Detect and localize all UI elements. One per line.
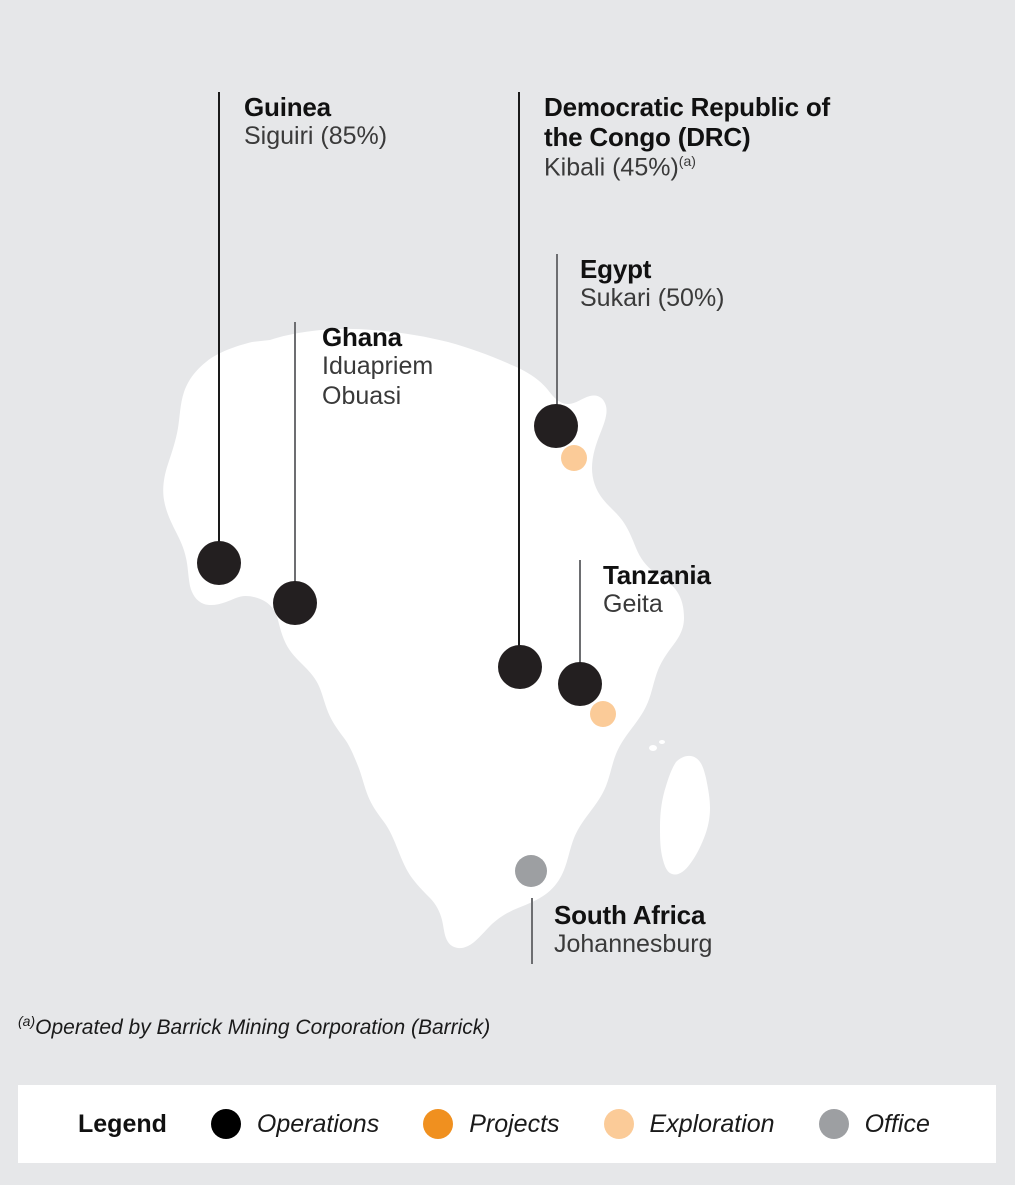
callout-country-tanzania: Tanzania: [603, 560, 843, 590]
callout-guinea: Guinea Siguiri (85%): [244, 92, 494, 152]
leader-line-ghana: [294, 322, 296, 584]
map-marker-south-africa-office[interactable]: [515, 855, 547, 887]
map-other-regions: [596, 350, 790, 452]
footnote-text: Operated by Barrick Mining Corporation (…: [35, 1016, 490, 1039]
callout-superscript-drc: (a): [679, 153, 696, 169]
callout-ghana: Ghana Iduapriem Obuasi: [322, 322, 562, 411]
legend-label-operations: Operations: [257, 1110, 379, 1139]
legend-item-exploration: Exploration: [604, 1109, 775, 1139]
leader-line-tanzania: [579, 560, 581, 664]
africa-map: Guinea Siguiri (85%) Democratic Republic…: [0, 0, 1015, 1000]
callout-site-drc-0: Kibali (45%)(a): [544, 153, 874, 183]
callout-egypt: Egypt Sukari (50%): [580, 254, 830, 314]
map-marker-tanzania-exploration[interactable]: [590, 701, 616, 727]
map-marker-tanzania-geita[interactable]: [558, 662, 602, 706]
callout-site-ghana-1: Obuasi: [322, 382, 562, 411]
map-marker-guinea-siguiri[interactable]: [197, 541, 241, 585]
callout-country-south-africa: South Africa: [554, 900, 854, 930]
leader-line-guinea: [218, 92, 220, 542]
legend-title: Legend: [78, 1110, 167, 1139]
operations-swatch-icon: [211, 1109, 241, 1139]
legend: Legend Operations Projects Exploration O…: [18, 1085, 996, 1163]
map-marker-drc-kibali[interactable]: [498, 645, 542, 689]
callout-country-drc: Democratic Republic of the Congo (DRC): [544, 92, 874, 153]
legend-label-office: Office: [865, 1110, 930, 1139]
legend-item-operations: Operations: [211, 1109, 379, 1139]
map-marker-egypt-sukari[interactable]: [534, 404, 578, 448]
callout-site-egypt-0: Sukari (50%): [580, 284, 830, 313]
callout-country-egypt: Egypt: [580, 254, 830, 284]
legend-label-projects: Projects: [469, 1110, 559, 1139]
footnote-superscript: (a): [18, 1013, 35, 1029]
exploration-swatch-icon: [604, 1109, 634, 1139]
footnote: (a)Operated by Barrick Mining Corporatio…: [18, 1013, 490, 1040]
map-marker-ghana-obuasi[interactable]: [273, 581, 317, 625]
callout-site-drc-text: Kibali (45%): [544, 153, 679, 181]
callout-country-guinea: Guinea: [244, 92, 494, 122]
callout-south-africa: South Africa Johannesburg: [554, 900, 854, 960]
callout-tanzania: Tanzania Geita: [603, 560, 843, 620]
callout-site-ghana-0: Iduapriem: [322, 352, 562, 381]
office-swatch-icon: [819, 1109, 849, 1139]
callout-site-south-africa-0: Johannesburg: [554, 930, 854, 959]
callout-drc: Democratic Republic of the Congo (DRC) K…: [544, 92, 874, 182]
leader-line-south-africa: [531, 898, 533, 964]
legend-item-office: Office: [819, 1109, 930, 1139]
callout-country-ghana: Ghana: [322, 322, 562, 352]
projects-swatch-icon: [423, 1109, 453, 1139]
callout-site-tanzania-0: Geita: [603, 590, 843, 619]
map-marker-egypt-exploration[interactable]: [561, 445, 587, 471]
legend-label-exploration: Exploration: [650, 1110, 775, 1139]
callout-site-guinea-0: Siguiri (85%): [244, 122, 494, 151]
legend-item-projects: Projects: [423, 1109, 559, 1139]
